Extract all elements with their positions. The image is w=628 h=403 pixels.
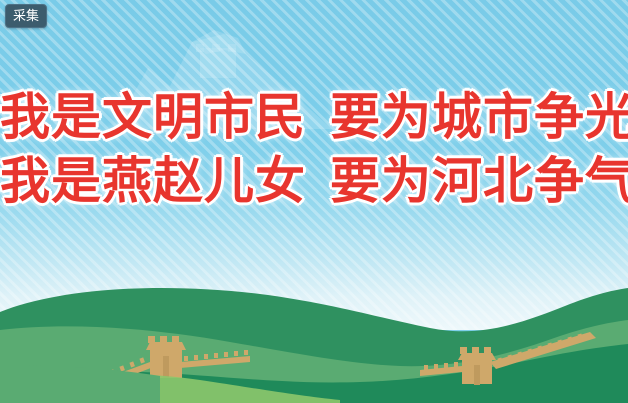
propaganda-banner-image: 我是文明市民要为城市争光 我是燕赵儿女要为河北争气	[0, 0, 628, 403]
background-mountain-silhouette	[96, 24, 346, 129]
watchtower-left	[146, 336, 186, 378]
watchtower-right	[458, 347, 496, 385]
capture-button[interactable]: 采集	[5, 4, 47, 28]
green-hills-landscape	[0, 270, 628, 403]
